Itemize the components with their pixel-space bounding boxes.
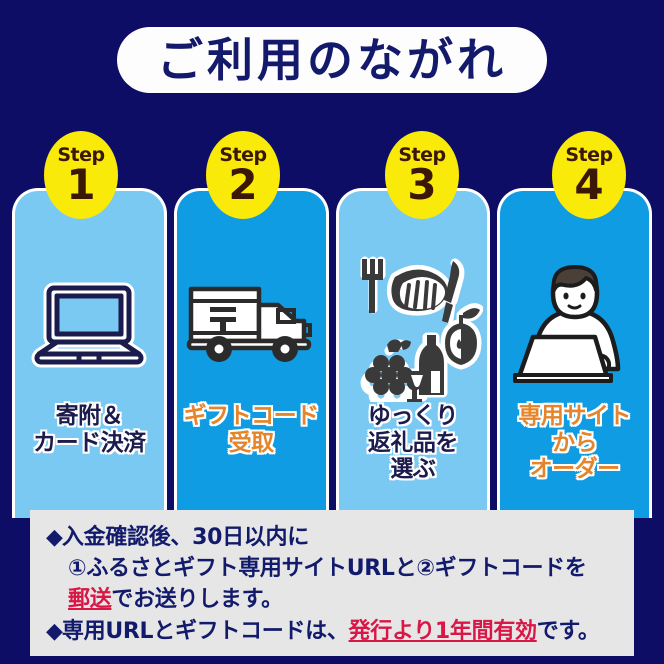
person-at-laptop-icon [500, 239, 649, 409]
diamond-bullet-icon: ◆ [46, 619, 62, 644]
note-line-4: ◆専用URLとギフトコードは、発行より1年間有効です。 [46, 616, 634, 647]
note-line-4-pre: 専用URLとギフトコードは、 [62, 619, 349, 644]
step-card-1[interactable]: 寄附＆ カード決済 [12, 188, 167, 518]
step-badge-number: 4 [574, 166, 603, 205]
caption-line: 返礼品を [339, 430, 488, 457]
step-badge-number: 1 [66, 166, 95, 205]
page-title-pill: ご利用のながれ [117, 27, 547, 93]
note-line-3: 郵送でお送りします。 [46, 584, 634, 615]
note-line-4-post: です。 [537, 619, 600, 644]
note-panel: ◆入金確認後、30日以内に ①ふるさとギフト専用サイトURLと②ギフトコードを … [30, 510, 634, 656]
step-caption-4: 専用サイト から オーダー [500, 403, 649, 483]
food-gifts-icon [339, 239, 488, 409]
note-line-2: ①ふるさとギフト専用サイトURLと②ギフトコードを [46, 553, 634, 584]
caption-line: ギフトコード [177, 403, 326, 430]
note-line-1: ◆入金確認後、30日以内に [46, 522, 634, 553]
postal-delivery-truck-icon [177, 239, 326, 409]
step-badge-number: 2 [228, 166, 257, 205]
caption-line: 寄附＆ [15, 403, 164, 430]
caption-line: 専用サイト [500, 403, 649, 430]
step-caption-2: ギフトコード 受取 [177, 403, 326, 456]
note-line-3-text: でお送りします。 [111, 587, 282, 612]
note-line-2-text: ①ふるさとギフト専用サイトURLと②ギフトコードを [68, 556, 587, 581]
step-badge-4: Step 4 [552, 131, 626, 219]
step-badge-3: Step 3 [385, 131, 459, 219]
steps-row: 寄附＆ カード決済 [12, 188, 652, 518]
caption-line: 受取 [177, 430, 326, 457]
note-line-1-text: 入金確認後、30日以内に [62, 525, 309, 550]
note-highlight-mailing: 郵送 [68, 587, 111, 612]
caption-line: カード決済 [15, 430, 164, 457]
step-card-3[interactable]: ゆっくり 返礼品を 選ぶ [336, 188, 491, 518]
caption-line: ゆっくり [339, 403, 488, 430]
caption-line: オーダー [500, 456, 649, 483]
step-badge-1: Step 1 [44, 131, 118, 219]
step-card-4[interactable]: 専用サイト から オーダー [497, 188, 652, 518]
step-badge-number: 3 [407, 166, 436, 205]
step-caption-1: 寄附＆ カード決済 [15, 403, 164, 456]
step-caption-3: ゆっくり 返礼品を 選ぶ [339, 403, 488, 483]
step-card-2[interactable]: ギフトコード 受取 [174, 188, 329, 518]
page-title: ご利用のながれ [157, 37, 507, 83]
caption-line: から [500, 430, 649, 457]
diamond-bullet-icon: ◆ [46, 525, 62, 550]
step-badge-2: Step 2 [206, 131, 280, 219]
laptop-icon [15, 239, 164, 409]
note-highlight-validity: 発行より1年間有効 [349, 619, 537, 644]
caption-line: 選ぶ [339, 456, 488, 483]
infographic-canvas: ご利用のながれ [0, 0, 664, 664]
